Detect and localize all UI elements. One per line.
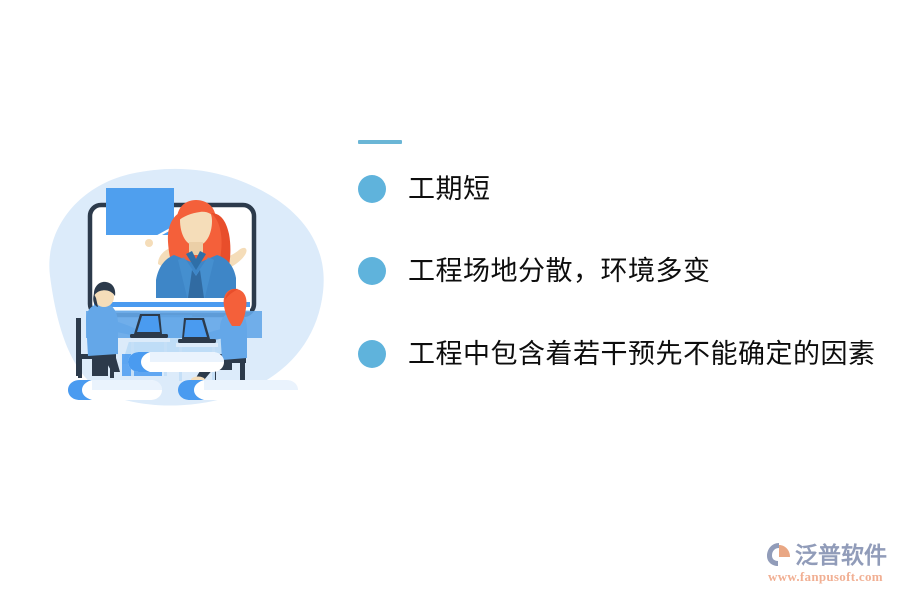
watermark-brand-row: 泛普软件: [766, 536, 896, 568]
bullet-text: 工程场地分散，环境多变: [408, 255, 711, 287]
bullet-list: 工期短 工程场地分散，环境多变 工程中包含着若干预先不能确定的因素: [358, 173, 898, 370]
online-classroom-illustration: [34, 158, 334, 420]
bullet-text: 工程中包含着若干预先不能确定的因素: [408, 338, 876, 370]
watermark-brand-text: 泛普软件: [795, 542, 887, 568]
content-column: 工期短 工程场地分散，环境多变 工程中包含着若干预先不能确定的因素: [358, 140, 898, 370]
accent-rule-divider: [358, 140, 402, 144]
list-item: 工期短: [358, 173, 898, 205]
bullet-dot-icon: [358, 340, 386, 368]
bullet-dot-icon: [358, 175, 386, 203]
bullet-text: 工期短: [408, 173, 491, 205]
slide-canvas: 工期短 工程场地分散，环境多变 工程中包含着若干预先不能确定的因素 泛普软件: [0, 0, 900, 600]
bullet-dot-icon: [358, 257, 386, 285]
list-item: 工程中包含着若干预先不能确定的因素: [358, 338, 898, 370]
list-item: 工程场地分散，环境多变: [358, 255, 898, 287]
watermark: 泛普软件 www.fanpusoft.com: [766, 536, 896, 588]
fanpu-logo-icon: [766, 540, 794, 568]
presentation-board: [106, 188, 174, 235]
watermark-url-text: www.fanpusoft.com: [768, 569, 896, 585]
